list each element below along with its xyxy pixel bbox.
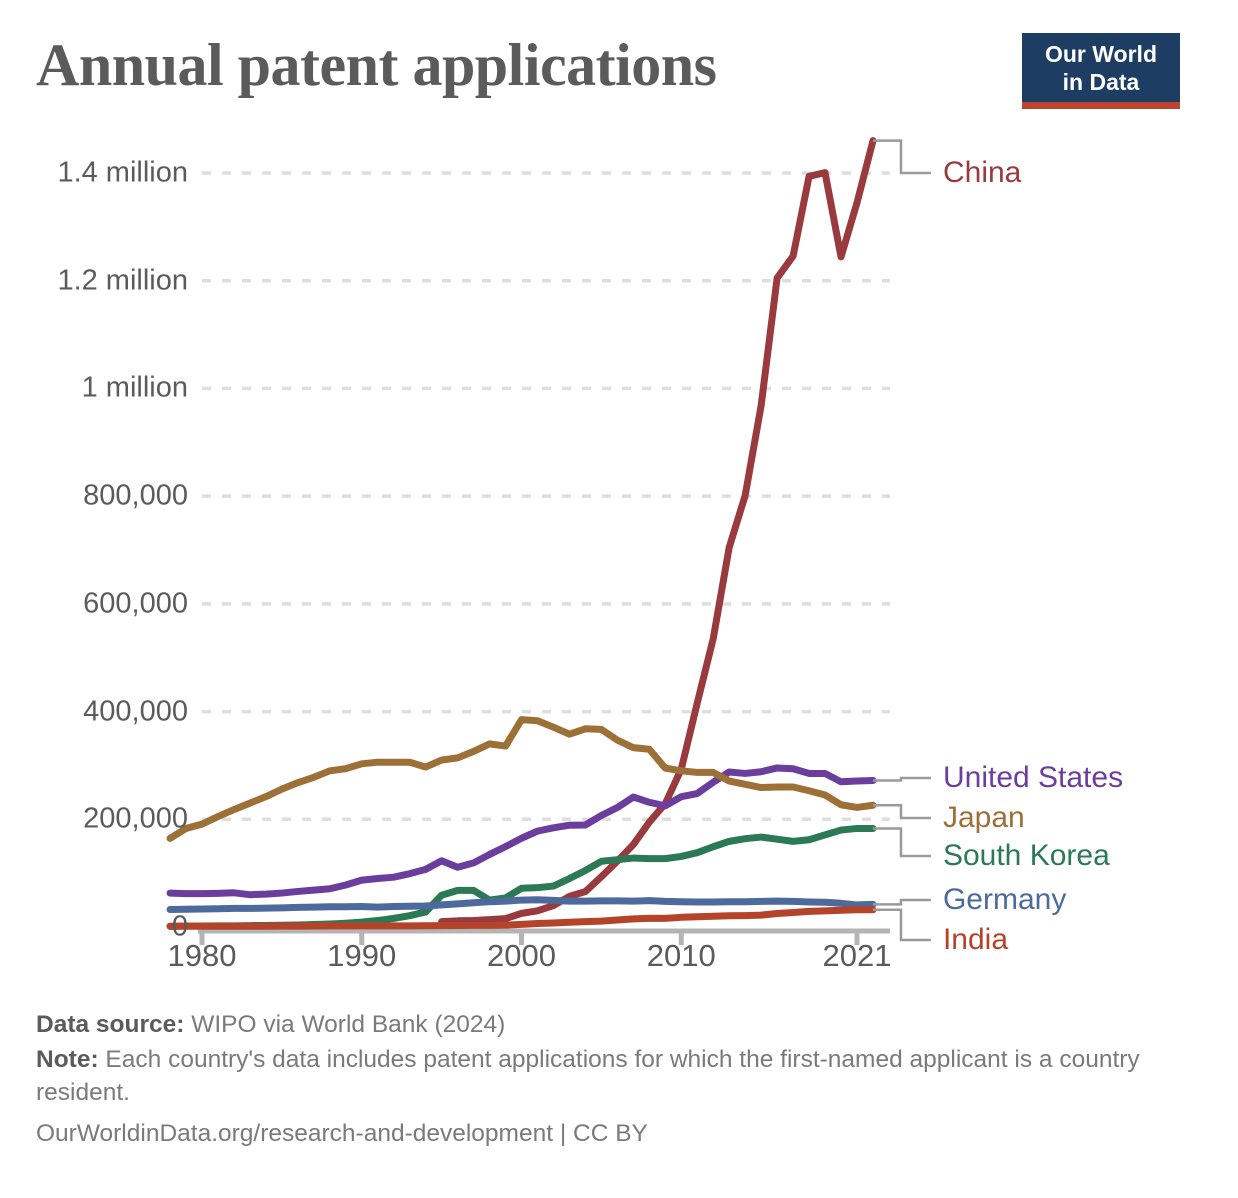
- owid-logo-line-1: Our World: [1022, 40, 1180, 68]
- data-source-value: WIPO via World Bank (2024): [184, 1011, 505, 1038]
- x-axis-tick-label: 2010: [647, 938, 716, 974]
- owid-logo-line-2: in Data: [1022, 68, 1180, 96]
- y-axis-tick-label: 1.4 million: [57, 157, 188, 190]
- footer-link[interactable]: OurWorldinData.org/research-and-developm…: [36, 1117, 1216, 1150]
- note-value: Each country's data includes patent appl…: [36, 1046, 1140, 1106]
- x-axis-tick-label: 1980: [168, 938, 237, 974]
- series-label-china[interactable]: China: [943, 158, 1021, 188]
- chart-header: Annual patent applications Our World in …: [0, 0, 1238, 128]
- y-axis-tick-label: 400,000: [83, 695, 188, 728]
- data-source-label: Data source:: [36, 1011, 184, 1038]
- series-label-united-states[interactable]: United States: [943, 763, 1123, 793]
- chart-footer: Data source: WIPO via World Bank (2024) …: [36, 1008, 1216, 1152]
- owid-logo[interactable]: Our World in Data: [1022, 33, 1180, 109]
- data-source-row: Data source: WIPO via World Bank (2024): [36, 1008, 1216, 1041]
- y-axis-tick-label: 1 million: [82, 372, 188, 405]
- series-label-germany[interactable]: Germany: [943, 885, 1066, 915]
- x-axis-tick-labels: 19801990200020102021: [0, 938, 1238, 988]
- x-axis-tick-label: 2000: [487, 938, 556, 974]
- y-axis-tick-label: 200,000: [83, 803, 188, 836]
- series-label-india[interactable]: India: [943, 925, 1008, 955]
- note-row: Note: Each country's data includes paten…: [36, 1043, 1216, 1109]
- y-axis-tick-label: 1.2 million: [57, 264, 188, 297]
- chart-page: Annual patent applications Our World in …: [0, 0, 1238, 1198]
- chart-plot-area: 0200,000400,000600,000800,0001 million1.…: [0, 128, 1238, 1000]
- series-label-japan[interactable]: Japan: [943, 803, 1025, 833]
- y-axis-tick-label: 800,000: [83, 480, 188, 513]
- x-axis-tick-label: 1990: [327, 938, 396, 974]
- page-title: Annual patent applications: [36, 30, 717, 100]
- y-axis-tick-label: 600,000: [83, 587, 188, 620]
- note-label: Note:: [36, 1046, 99, 1073]
- x-axis-tick-label: 2021: [823, 938, 892, 974]
- series-label-south-korea[interactable]: South Korea: [943, 841, 1110, 871]
